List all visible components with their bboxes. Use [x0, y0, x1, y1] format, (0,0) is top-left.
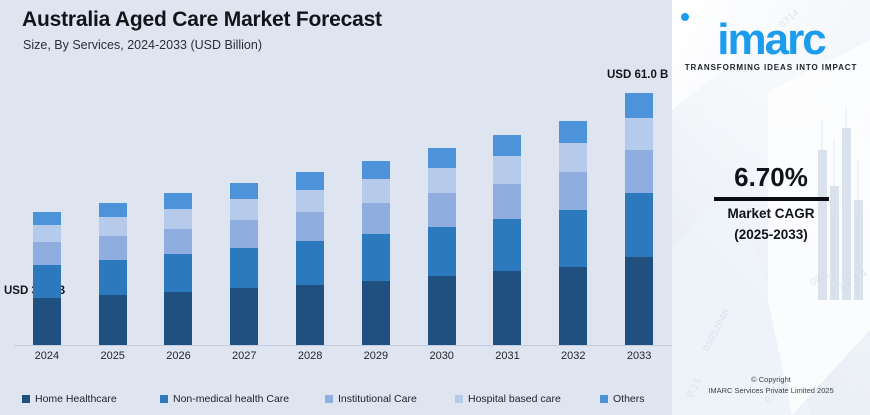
bar-segment: [33, 212, 61, 225]
copyright-line-2: IMARC Services Private Limited 2025: [672, 386, 870, 397]
bar-segment: [164, 292, 192, 345]
bar-segment: [296, 285, 324, 345]
bar-segment: [493, 135, 521, 156]
bar-segment: [362, 179, 390, 203]
bar-segment: [559, 267, 587, 345]
bar-segment: [230, 248, 258, 288]
bar-column: [211, 70, 277, 345]
legend-item[interactable]: Home Healthcare: [22, 393, 117, 405]
brand-panel: 00.0 1 2 3 4 05052048 0.15 07768 0314 im…: [672, 0, 870, 415]
bar-segment: [99, 260, 127, 296]
bar-segment: [625, 118, 653, 151]
bar-segment: [428, 193, 456, 226]
page-title: Australia Aged Care Market Forecast: [22, 8, 382, 32]
plot-area: [14, 70, 672, 345]
stacked-bar[interactable]: [428, 148, 456, 345]
bar-segment: [296, 190, 324, 212]
legend-swatch-icon: [600, 395, 608, 403]
bar-segment: [493, 271, 521, 345]
bar-column: [80, 70, 146, 345]
bar-segment: [362, 203, 390, 234]
x-axis-line: [14, 345, 672, 346]
copyright-notice: © Copyright IMARC Services Private Limit…: [672, 375, 870, 397]
bar-segment: [428, 276, 456, 345]
bar-segment: [33, 242, 61, 265]
bar-segment: [230, 199, 258, 220]
bar-segment: [362, 234, 390, 280]
bar-segment: [296, 212, 324, 241]
bar-segment: [99, 295, 127, 345]
bar-column: [540, 70, 606, 345]
legend-label: Institutional Care: [338, 393, 417, 405]
legend-label: Non-medical health Care: [173, 393, 289, 405]
stacked-bar[interactable]: [230, 183, 258, 345]
bar-segment: [362, 161, 390, 179]
x-axis-tick-label: 2026: [146, 350, 212, 362]
bar-segment: [559, 143, 587, 172]
legend-item[interactable]: Hospital based care: [455, 393, 561, 405]
cagr-period: (2025-2033): [672, 227, 870, 242]
x-axis-tick-label: 2032: [540, 350, 606, 362]
stacked-bar[interactable]: [164, 193, 192, 345]
bar-segment: [559, 172, 587, 210]
bar-segment: [625, 193, 653, 256]
bar-column: [475, 70, 541, 345]
bar-segment: [428, 148, 456, 167]
page-subtitle: Size, By Services, 2024-2033 (USD Billio…: [23, 38, 262, 52]
stacked-bar[interactable]: [33, 212, 61, 345]
x-axis-tick-label: 2033: [606, 350, 672, 362]
stacked-bar[interactable]: [625, 93, 653, 345]
brand-logo-text: imarc: [717, 18, 824, 62]
bar-segment: [230, 220, 258, 248]
bar-column: [343, 70, 409, 345]
x-axis-tick-label: 2027: [211, 350, 277, 362]
brand-tagline: TRANSFORMING IDEAS INTO IMPACT: [672, 63, 870, 72]
chart-legend: Home HealthcareNon-medical health CareIn…: [0, 382, 672, 415]
chart-panel: Australia Aged Care Market Forecast Size…: [0, 0, 672, 415]
bar-segment: [33, 225, 61, 242]
bar-segment: [493, 184, 521, 220]
bar-segment: [625, 150, 653, 193]
bar-column: [409, 70, 475, 345]
cagr-divider: [714, 197, 829, 201]
legend-label: Home Healthcare: [35, 393, 117, 405]
x-axis-ticks: 2024202520262027202820292030203120322033: [14, 347, 672, 369]
bar-segment: [428, 168, 456, 194]
legend-label: Others: [613, 393, 645, 405]
legend-item[interactable]: Non-medical health Care: [160, 393, 289, 405]
cagr-label: Market CAGR: [672, 206, 870, 221]
bar-segment: [33, 265, 61, 298]
legend-item[interactable]: Institutional Care: [325, 393, 417, 405]
stacked-bar[interactable]: [493, 135, 521, 345]
bar-segment: [296, 172, 324, 189]
bar-segment: [428, 227, 456, 276]
legend-label: Hospital based care: [468, 393, 561, 405]
bar-segment: [493, 219, 521, 271]
bar-segment: [230, 288, 258, 345]
brand-logo-dot-icon: [681, 13, 689, 21]
bar-segment: [625, 93, 653, 118]
copyright-line-1: © Copyright: [672, 375, 870, 386]
bar-column: [277, 70, 343, 345]
bar-segment: [164, 209, 192, 229]
stacked-bar[interactable]: [99, 203, 127, 345]
stacked-bar[interactable]: [559, 121, 587, 345]
x-axis-tick-label: 2029: [343, 350, 409, 362]
bar-column: [14, 70, 80, 345]
bar-segment: [230, 183, 258, 199]
legend-item[interactable]: Others: [600, 393, 645, 405]
x-axis-tick-label: 2025: [80, 350, 146, 362]
bar-segment: [559, 121, 587, 143]
x-axis-tick-label: 2024: [14, 350, 80, 362]
chart-screenshot: Australia Aged Care Market Forecast Size…: [0, 0, 870, 415]
stacked-bar[interactable]: [296, 172, 324, 345]
stacked-bar[interactable]: [362, 161, 390, 345]
x-axis-tick-label: 2031: [475, 350, 541, 362]
bar-segment: [493, 156, 521, 183]
legend-swatch-icon: [160, 395, 168, 403]
x-axis-tick-label: 2028: [277, 350, 343, 362]
legend-swatch-icon: [22, 395, 30, 403]
bar-segment: [99, 236, 127, 260]
bar-segment: [33, 298, 61, 345]
cagr-value: 6.70%: [672, 162, 870, 193]
bar-segment: [164, 254, 192, 292]
legend-swatch-icon: [325, 395, 333, 403]
bar-segment: [559, 210, 587, 266]
bar-segment: [296, 241, 324, 284]
bar-segment: [99, 217, 127, 236]
bar-column: [606, 70, 672, 345]
bar-segment: [164, 229, 192, 255]
bar-segment: [625, 257, 653, 345]
x-axis-tick-label: 2030: [409, 350, 475, 362]
bar-segment: [164, 193, 192, 208]
brand-logo: imarc TRANSFORMING IDEAS INTO IMPACT: [672, 18, 870, 72]
bar-column: [146, 70, 212, 345]
bar-segment: [99, 203, 127, 217]
bar-segment: [362, 281, 390, 345]
legend-swatch-icon: [455, 395, 463, 403]
